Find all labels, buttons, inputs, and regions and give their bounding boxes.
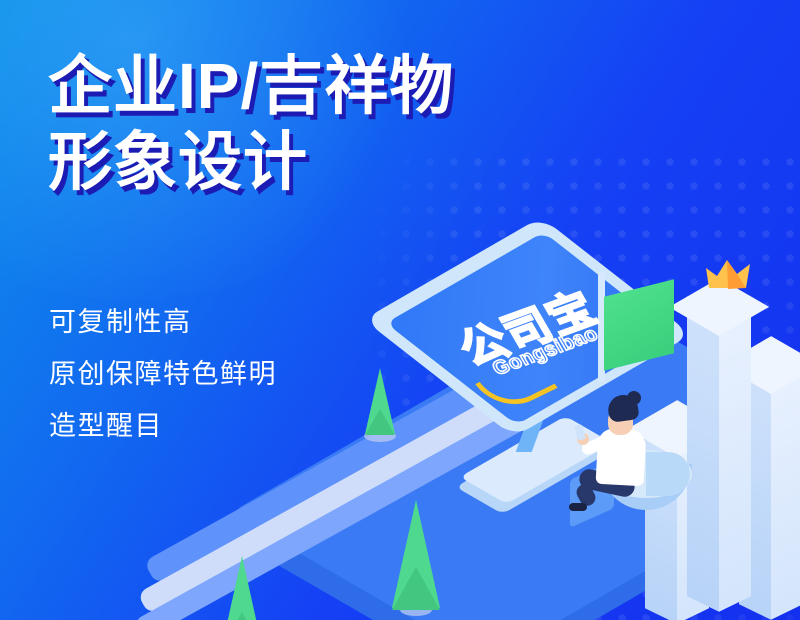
- bar-face-right: [719, 296, 751, 612]
- tree-cone: [222, 556, 262, 620]
- feature-list: 可复制性高 原创保障特色鲜明 造型醒目: [49, 296, 277, 452]
- promo-banner: 公司宝 Gongsibao: [0, 0, 800, 620]
- seated-person: [575, 395, 665, 515]
- tree-medium: [222, 556, 262, 620]
- tree-cone-lower: [392, 567, 440, 610]
- headline-block: 企业IP/吉祥物 形象设计: [48, 48, 668, 200]
- headline-line-2: 形象设计: [48, 124, 668, 200]
- tree-small: [365, 368, 395, 434]
- feature-item-2: 原创保障特色鲜明: [49, 348, 277, 400]
- headline-line-1: 企业IP/吉祥物: [48, 48, 668, 124]
- phone-icon: [574, 424, 586, 441]
- tree-cone-lower: [365, 409, 395, 435]
- tree-large: [392, 500, 440, 608]
- feature-item-1: 可复制性高: [49, 296, 277, 348]
- tree-cone-lower: [222, 612, 262, 620]
- bar-face-right: [771, 354, 800, 620]
- crown-icon: [706, 258, 752, 292]
- feature-item-3: 造型醒目: [49, 400, 277, 452]
- person-hair-tuft: [627, 391, 641, 405]
- person-shoe: [569, 503, 587, 511]
